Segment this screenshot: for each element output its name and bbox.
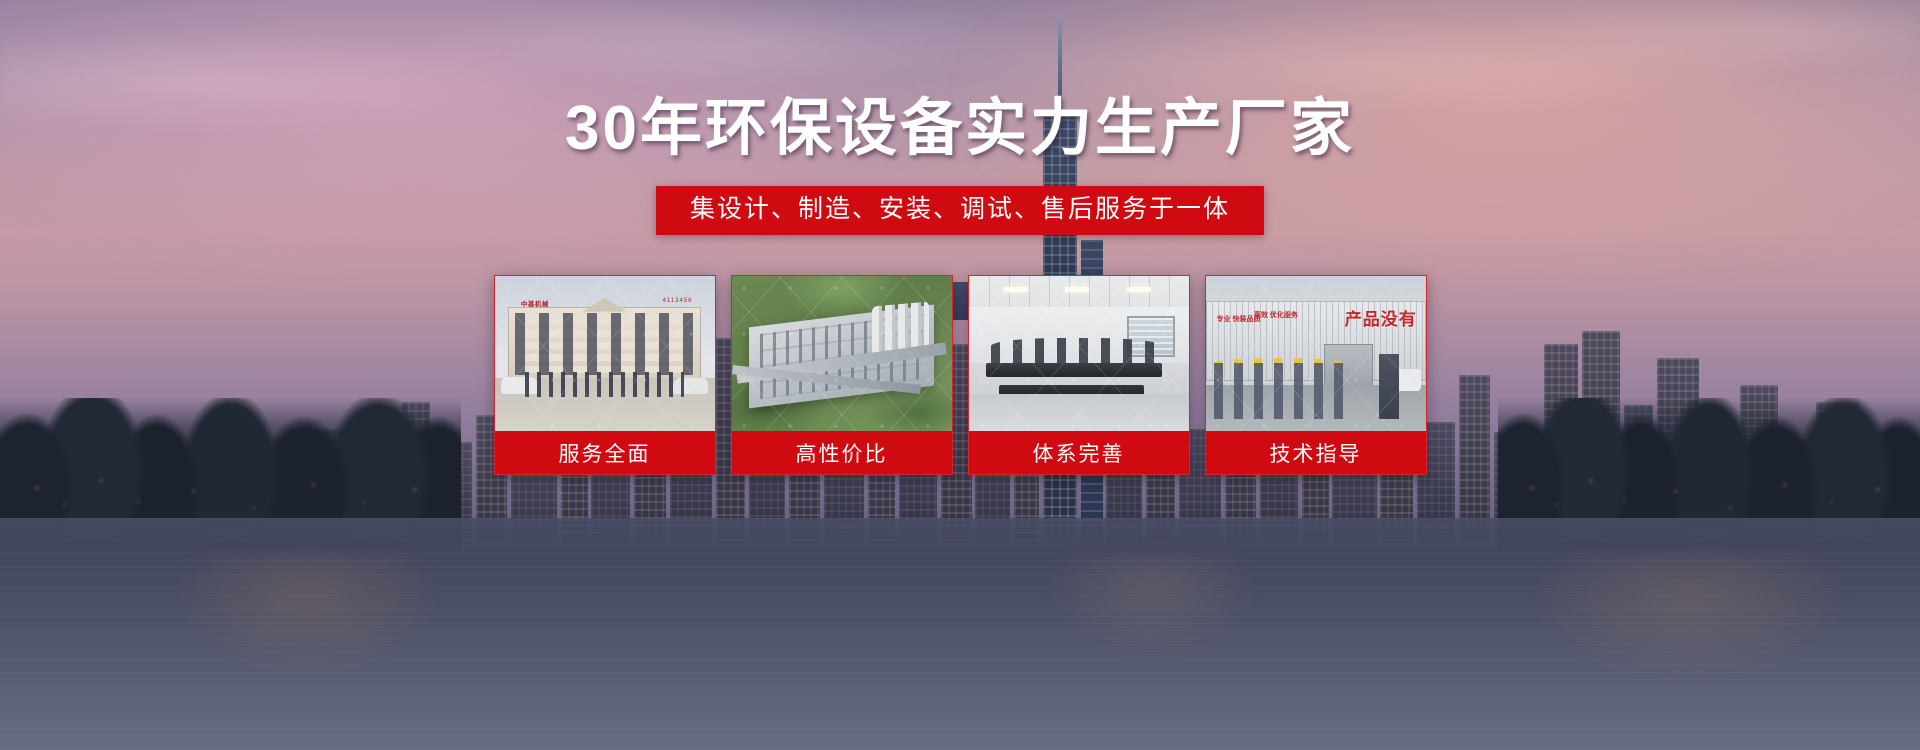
feature-card[interactable]: 高性价比 [731, 275, 953, 475]
factory-wall-sign-text: 产品没有 [1345, 305, 1417, 330]
feature-card[interactable]: 产品没有 专业 快装品质 高效 优化服务 技术指导 [1205, 275, 1427, 475]
hero-banner: 30年环保设备实力生产厂家 集设计、制造、安装、调试、售后服务于一体 中基机械 … [0, 0, 1920, 750]
factory-workers-photo: 产品没有 专业 快装品质 高效 优化服务 [1206, 276, 1426, 431]
feature-card-label: 高性价比 [732, 431, 952, 474]
banner-subtitle-bar: 集设计、制造、安装、调试、售后服务于一体 [656, 186, 1264, 235]
feature-card-label: 体系完善 [969, 431, 1189, 474]
company-office-building-photo: 中基机械 4113456 [495, 276, 715, 431]
feature-card[interactable]: 体系完善 [968, 275, 1190, 475]
feature-card-label: 技术指导 [1206, 431, 1426, 474]
building-phone-text: 4113456 [663, 298, 693, 304]
building-sign-text: 中基机械 [521, 298, 549, 308]
feature-card-label: 服务全面 [495, 431, 715, 474]
feature-card-list: 中基机械 4113456 服务全面 [494, 275, 1427, 475]
factory-wall-slogan-right: 高效 优化服务 [1254, 312, 1298, 321]
banner-headline: 30年环保设备实力生产厂家 [565, 98, 1355, 160]
feature-card[interactable]: 中基机械 4113456 服务全面 [494, 275, 716, 475]
aerial-production-plant-photo [732, 276, 952, 431]
office-meeting-room-photo [969, 276, 1189, 431]
banner-content: 30年环保设备实力生产厂家 集设计、制造、安装、调试、售后服务于一体 中基机械 … [0, 0, 1920, 750]
